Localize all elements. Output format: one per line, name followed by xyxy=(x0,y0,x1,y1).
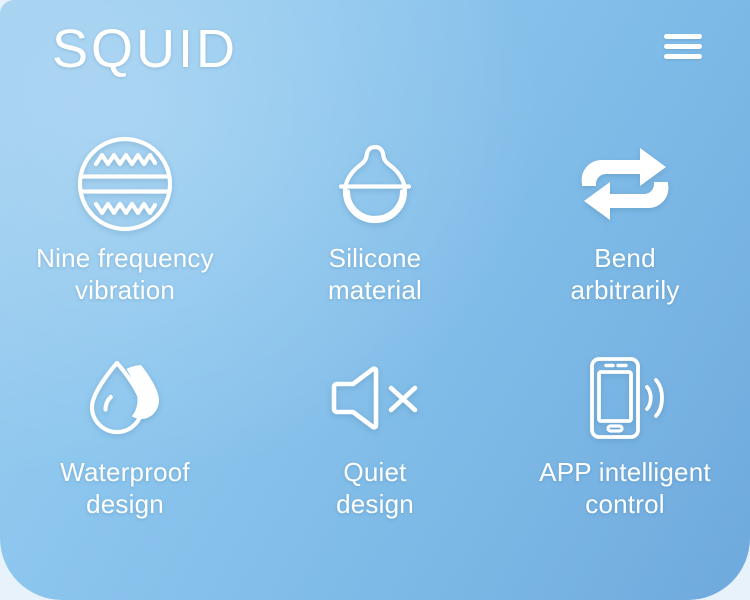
feature-label: Waterproof design xyxy=(60,456,190,520)
feature-item-waterproof[interactable]: Waterproof design xyxy=(0,344,250,558)
brand-title: SQUID xyxy=(52,22,238,76)
feature-label: Quiet design xyxy=(336,456,414,520)
feature-label: Bend arbitrarily xyxy=(570,242,679,306)
menu-bar-1 xyxy=(664,34,702,39)
feature-item-app-control[interactable]: APP intelligent control xyxy=(500,344,750,558)
feature-item-quiet[interactable]: Quiet design xyxy=(250,344,500,558)
speaker-mute-icon xyxy=(329,344,421,452)
feature-grid: Nine frequency vibration Silicone materi… xyxy=(0,130,750,558)
feature-label: Silicone material xyxy=(328,242,422,306)
vibration-circle-icon xyxy=(76,130,174,238)
feature-item-bend[interactable]: Bend arbitrarily xyxy=(500,130,750,344)
menu-bar-3 xyxy=(664,54,702,59)
feature-item-vibration[interactable]: Nine frequency vibration xyxy=(0,130,250,344)
feature-item-silicone[interactable]: Silicone material xyxy=(250,130,500,344)
water-droplets-icon xyxy=(83,344,167,452)
bend-loop-arrows-icon xyxy=(578,130,672,238)
smartphone-signal-icon xyxy=(579,344,671,452)
app-header: SQUID xyxy=(0,0,750,108)
menu-bar-2 xyxy=(664,44,702,49)
silicone-dome-icon xyxy=(329,130,421,238)
hamburger-menu-icon[interactable] xyxy=(664,34,702,64)
feature-label: APP intelligent control xyxy=(539,456,711,520)
product-feature-panel: SQUID Nine frequency vibration xyxy=(0,0,750,600)
feature-label: Nine frequency vibration xyxy=(36,242,214,306)
